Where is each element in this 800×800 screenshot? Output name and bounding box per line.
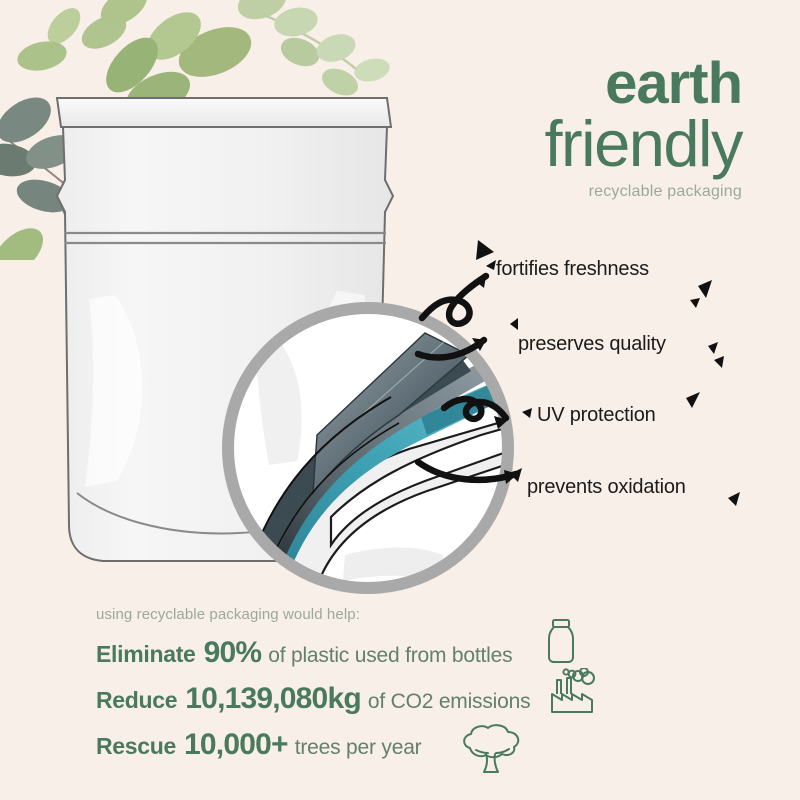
title-earth: earth bbox=[544, 56, 742, 113]
magnifier-cross-section bbox=[213, 293, 523, 603]
stat-tail: trees per year bbox=[295, 736, 422, 760]
leaf bbox=[94, 0, 154, 33]
leaf bbox=[138, 3, 209, 70]
headline-block: earth friendly recyclable packaging bbox=[544, 56, 742, 201]
spark-mark bbox=[690, 298, 700, 308]
stats-intro: using recyclable packaging would help: bbox=[96, 606, 736, 623]
leaf bbox=[277, 32, 324, 71]
pouch-top-seal bbox=[57, 98, 391, 127]
leaf bbox=[233, 0, 291, 26]
spark-mark bbox=[486, 260, 496, 270]
leaf bbox=[41, 2, 86, 50]
leaf bbox=[15, 37, 70, 75]
stat-row: Rescue 10,000+ trees per year bbox=[96, 728, 736, 761]
spark-mark bbox=[714, 356, 724, 368]
spark-mark bbox=[698, 280, 712, 298]
tree-icon bbox=[458, 724, 524, 776]
leaf bbox=[172, 17, 259, 86]
spark-mark bbox=[476, 240, 494, 260]
leaf bbox=[272, 4, 321, 41]
stat-verb: Reduce bbox=[96, 687, 177, 714]
title-subtitle: recyclable packaging bbox=[544, 183, 742, 201]
factory-icon bbox=[548, 668, 598, 714]
leaf bbox=[76, 8, 132, 55]
stat-row: Eliminate 90% of plastic used from bottl… bbox=[96, 636, 736, 669]
infographic-poster: earth friendly recyclable packaging fort… bbox=[0, 0, 800, 800]
feature-label-prevents-oxidation: prevents oxidation bbox=[527, 476, 686, 499]
arrowhead bbox=[474, 276, 486, 288]
stat-tail: of CO2 emissions bbox=[368, 690, 531, 714]
title-friendly: friendly bbox=[544, 111, 742, 177]
stat-verb: Rescue bbox=[96, 733, 176, 760]
spark-mark bbox=[728, 492, 740, 506]
leaf bbox=[313, 29, 359, 66]
leaf bbox=[0, 88, 59, 151]
stat-number: 90% bbox=[204, 636, 262, 670]
feature-label-preserves-quality: preserves quality bbox=[518, 333, 666, 356]
stat-number: 10,000+ bbox=[184, 728, 288, 762]
spark-mark bbox=[522, 408, 532, 418]
stat-verb: Eliminate bbox=[96, 641, 196, 668]
spark-mark bbox=[708, 342, 718, 354]
bottle-icon bbox=[544, 618, 578, 664]
feature-label-uv-protection: UV protection bbox=[537, 404, 656, 427]
stat-tail: of plastic used from bottles bbox=[268, 644, 512, 668]
leaf bbox=[0, 219, 52, 260]
stat-row: Reduce 10,139,080kg of CO2 emissions bbox=[96, 682, 736, 715]
stats-section: using recyclable packaging would help: E… bbox=[96, 606, 736, 774]
feature-label-fortifies-freshness: fortifies freshness bbox=[496, 258, 649, 281]
leaf-stem bbox=[252, 10, 362, 74]
leaf bbox=[352, 55, 392, 85]
leaf bbox=[0, 140, 38, 179]
stat-number: 10,139,080kg bbox=[185, 682, 361, 716]
spark-mark bbox=[686, 392, 700, 408]
leaf bbox=[97, 28, 168, 101]
